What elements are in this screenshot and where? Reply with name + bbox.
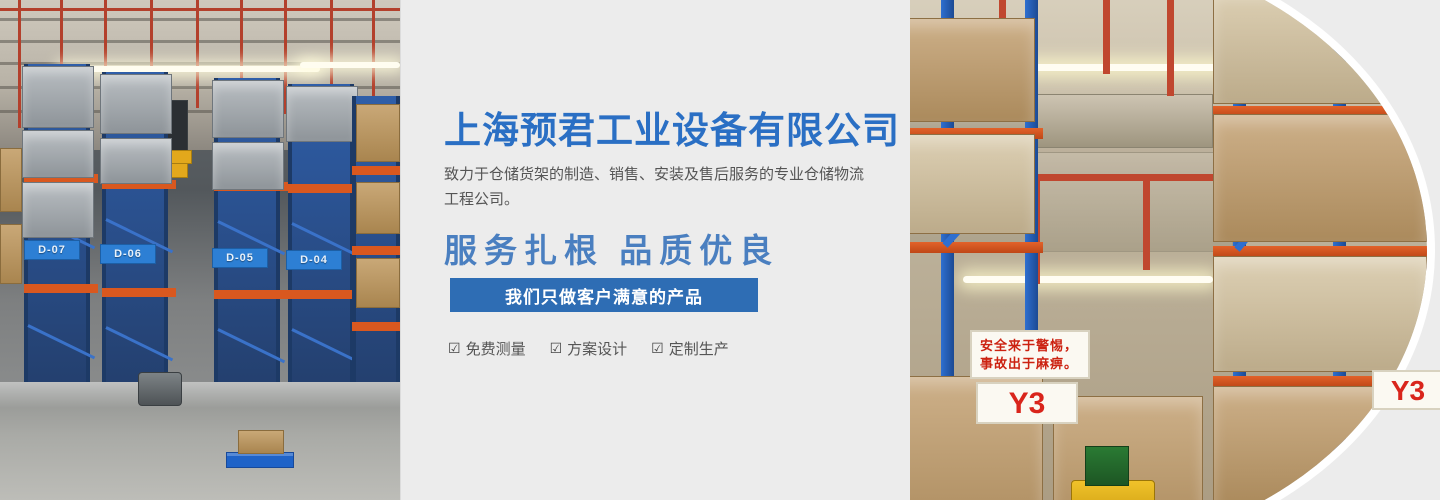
checkbox-checked-icon: ☑ [651, 340, 664, 357]
banner-slogan: 服务扎根 品质优良 [444, 224, 779, 272]
rack-label: D-06 [100, 244, 156, 264]
aisle-label-sign: Y3 [976, 382, 1078, 424]
cta-button[interactable]: 我们只做客户满意的产品 [450, 278, 758, 312]
blue-pallet [226, 452, 294, 468]
feature-item: ☑ 方案设计 [550, 338, 628, 359]
hero-banner: D-07 D-06 D-05 D-04 [0, 0, 1440, 500]
feature-label: 免费测量 [466, 338, 526, 359]
ceiling-light [60, 66, 320, 72]
feature-label: 方案设计 [567, 338, 627, 359]
left-warehouse-photo: D-07 D-06 D-05 D-04 [0, 0, 400, 500]
company-subtitle: 致力于仓储货架的制造、销售、安装及售后服务的专业仓储物流工程公司。 [444, 162, 864, 212]
circle-photo-mask: foxconn foxconn foxconn foxconn [910, 0, 1427, 500]
right-warehouse-photo: foxconn foxconn foxconn foxconn [910, 0, 1440, 500]
feature-item: ☑ 定制生产 [651, 338, 729, 359]
checkbox-checked-icon: ☑ [448, 340, 461, 357]
warehouse-floor [0, 382, 400, 500]
safety-sign-line-1: 安全来于警惕， [980, 337, 1080, 355]
rack-label: D-05 [212, 248, 268, 268]
aisle-label-sign-edge: Y3 [1372, 370, 1440, 410]
forklift-operator [1085, 446, 1129, 486]
feature-list: ☑ 免费测量 ☑ 方案设计 ☑ 定制生产 [448, 338, 729, 359]
company-title: 上海预君工业设备有限公司 [444, 100, 900, 154]
ceiling-light [300, 62, 400, 68]
banner-content: 上海预君工业设备有限公司 致力于仓储货架的制造、销售、安装及售后服务的专业仓储物… [400, 0, 940, 500]
feature-label: 定制生产 [669, 338, 729, 359]
safety-sign-line-2: 事故出于麻痹。 [980, 355, 1080, 373]
rack-label: D-07 [24, 240, 80, 260]
safety-warning-sign: 安全来于警惕， 事故出于麻痹。 [970, 330, 1090, 379]
feature-item: ☑ 免费测量 [448, 338, 526, 359]
rack-label: D-04 [286, 250, 342, 270]
checkbox-checked-icon: ☑ [550, 340, 563, 357]
